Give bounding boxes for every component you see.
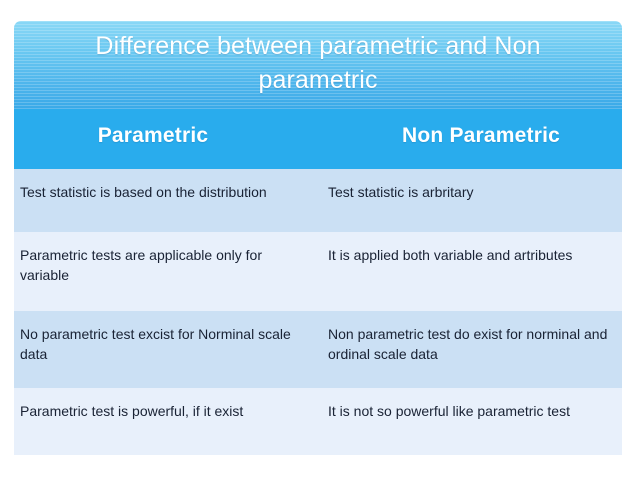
table-cell-parametric: Parametric test is powerful, if it exist xyxy=(14,388,318,455)
comparison-table: Difference between parametric and Non pa… xyxy=(14,21,622,455)
table-cell-parametric: No parametric test excist for Norminal s… xyxy=(14,311,318,388)
table-cell-parametric: Parametric tests are applicable only for… xyxy=(14,232,318,311)
table-title-band: Difference between parametric and Non pa… xyxy=(14,21,622,109)
slide-canvas: Difference between parametric and Non pa… xyxy=(0,0,638,479)
column-header-parametric: Parametric xyxy=(14,109,318,169)
table-cell-non-parametric: Non parametric test do exist for normina… xyxy=(318,311,622,388)
table-row: Parametric test is powerful, if it exist… xyxy=(14,388,622,455)
table-row: Test statistic is based on the distribut… xyxy=(14,169,622,232)
table-header-row: Parametric Non Parametric xyxy=(14,109,622,169)
column-header-parametric-label: Parametric xyxy=(98,124,209,148)
column-header-non-parametric-label: Non Parametric xyxy=(402,124,560,148)
table-cell-non-parametric: It is not so powerful like parametric te… xyxy=(318,388,622,455)
table-cell-non-parametric: Test statistic is arbritary xyxy=(318,169,622,232)
table-row: No parametric test excist for Norminal s… xyxy=(14,311,622,388)
table-cell-parametric: Test statistic is based on the distribut… xyxy=(14,169,318,232)
table-cell-non-parametric: It is applied both variable and artribut… xyxy=(318,232,622,311)
page-title: Difference between parametric and Non pa… xyxy=(54,29,582,97)
table-body: Test statistic is based on the distribut… xyxy=(14,169,622,455)
table-row: Parametric tests are applicable only for… xyxy=(14,232,622,311)
column-header-non-parametric: Non Parametric xyxy=(318,109,622,169)
